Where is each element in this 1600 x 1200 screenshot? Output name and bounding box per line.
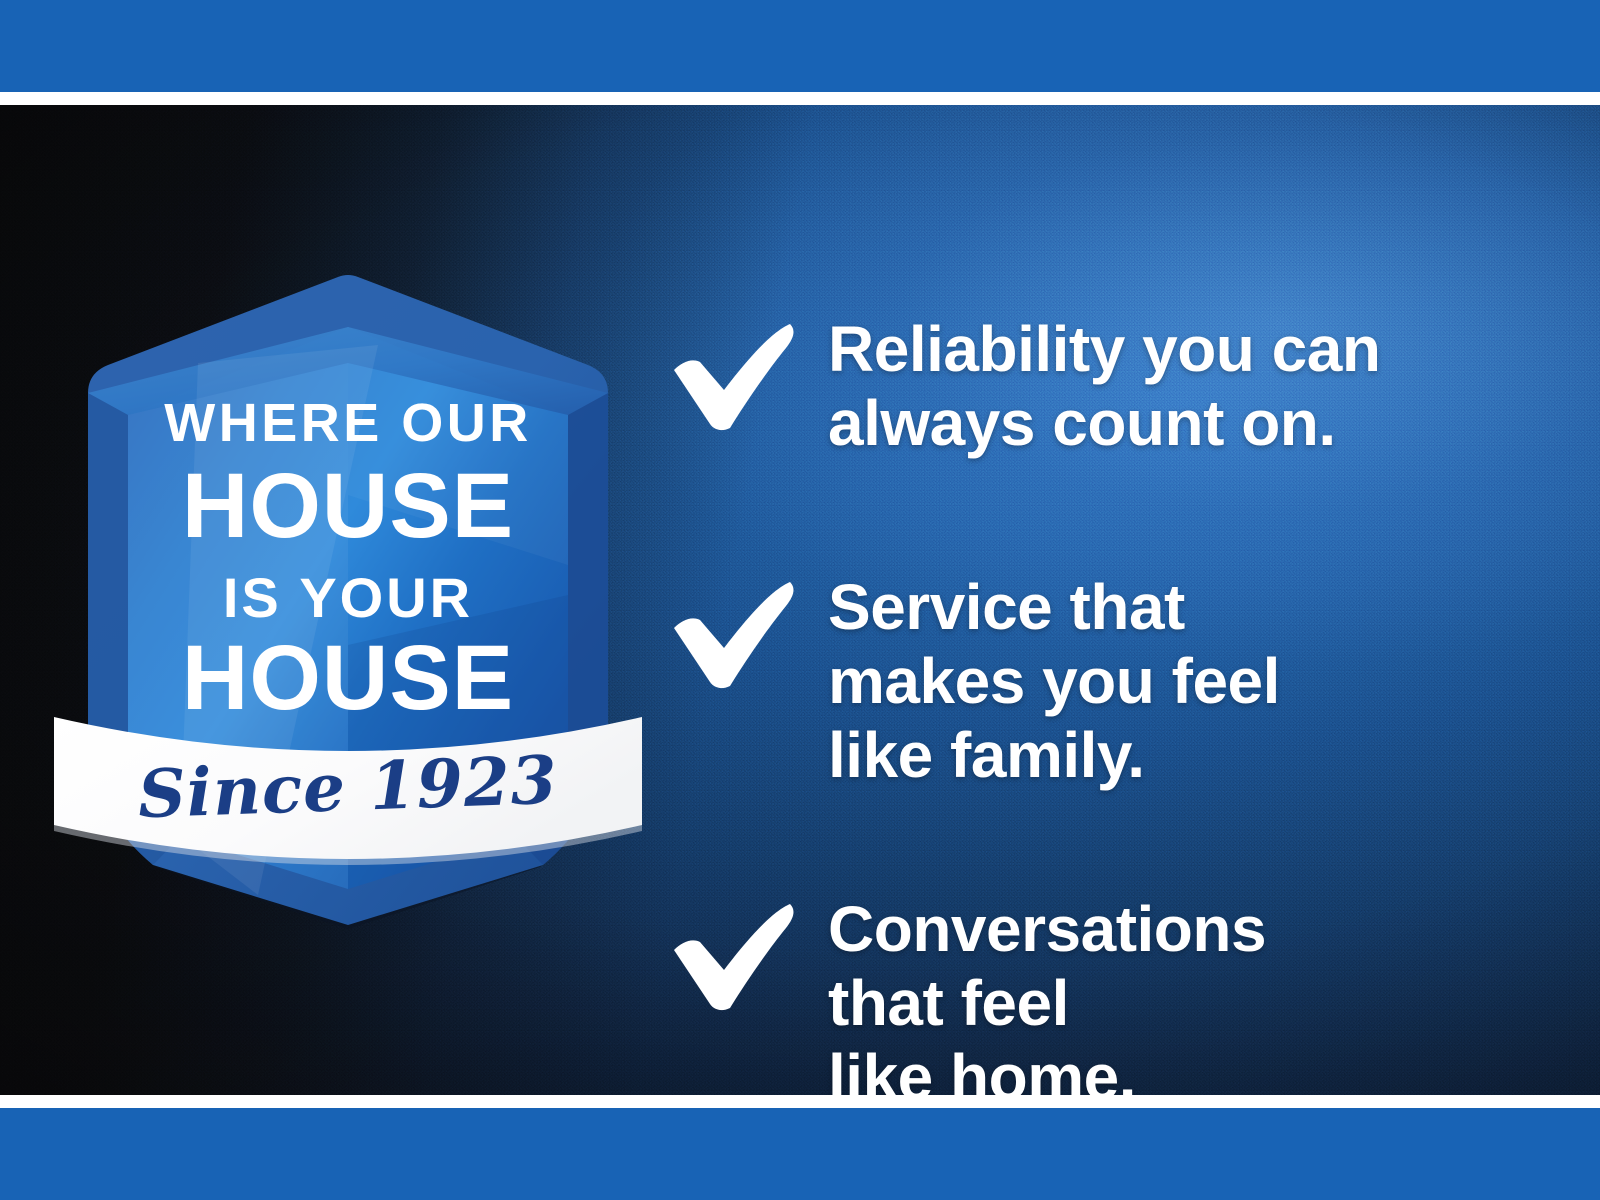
bottom-white-rule <box>0 1095 1600 1108</box>
shield-line-4: HOUSE <box>182 627 514 729</box>
benefit-text-3: Conversations that feel like home. <box>828 892 1266 1095</box>
checkmark-icon <box>668 576 800 694</box>
benefit-item-1: Reliability you can always count on. <box>668 312 1380 460</box>
top-brand-bar <box>0 0 1600 92</box>
bottom-brand-bar <box>0 1108 1600 1200</box>
promo-graphic: WHERE OUR HOUSE IS YOUR HOUSE Since 1923 <box>0 0 1600 1200</box>
benefit-text-1: Reliability you can always count on. <box>828 312 1380 460</box>
checkmark-icon <box>668 318 800 436</box>
shield-logo: WHERE OUR HOUSE IS YOUR HOUSE Since 1923 <box>48 265 648 935</box>
ribbon-text: Since 1923 <box>137 741 559 834</box>
benefit-text-2: Service that makes you feel like family. <box>828 570 1280 793</box>
artwork-canvas: WHERE OUR HOUSE IS YOUR HOUSE Since 1923 <box>0 105 1600 1095</box>
top-white-rule <box>0 92 1600 105</box>
shield-line-3: IS YOUR <box>223 566 473 629</box>
benefits-list: Reliability you can always count on. Ser… <box>668 210 1568 1095</box>
benefit-item-2: Service that makes you feel like family. <box>668 570 1280 793</box>
benefit-item-3: Conversations that feel like home. <box>668 892 1266 1095</box>
shield-line-2: HOUSE <box>182 455 514 557</box>
shield-line-1: WHERE OUR <box>164 393 532 453</box>
checkmark-icon <box>668 898 800 1016</box>
